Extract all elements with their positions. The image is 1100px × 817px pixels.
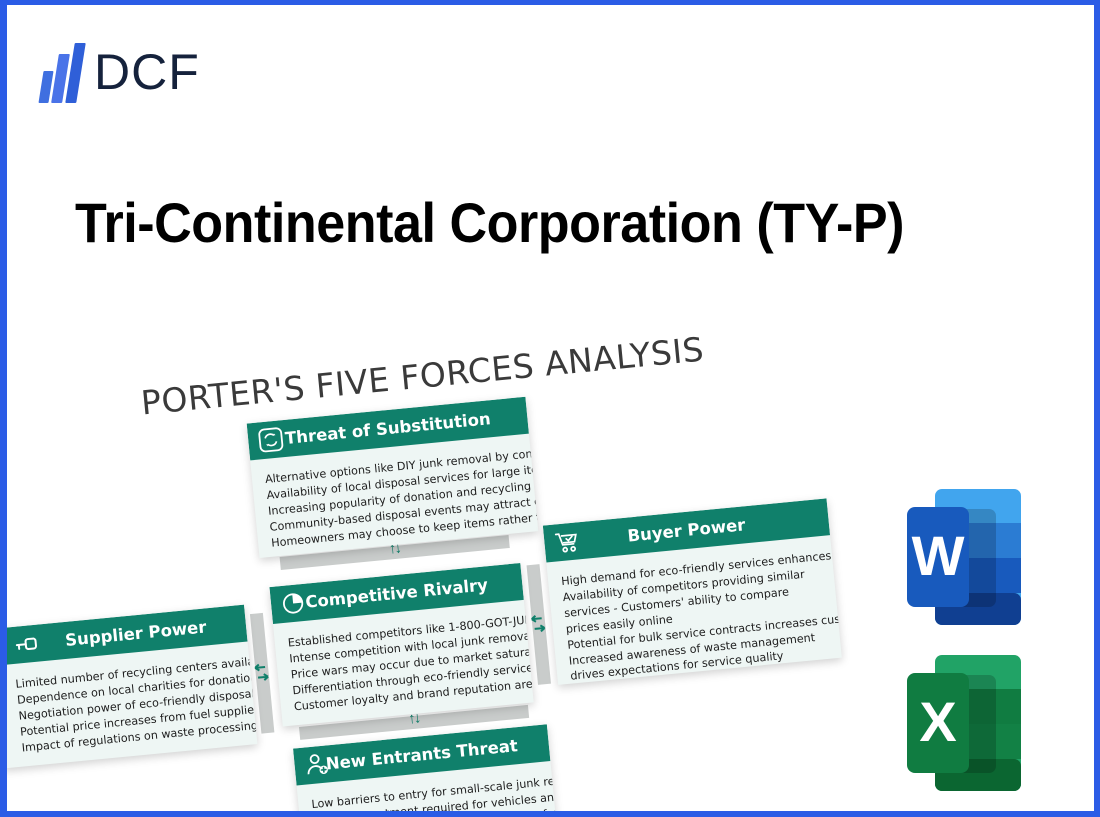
- card-points-list: Low barriers to entry for small-scale ju…: [311, 775, 545, 817]
- horizontal-arrows-icon: [251, 660, 273, 686]
- page-title: Tri-Continental Corporation (TY-P): [75, 190, 968, 255]
- card-buyer-power: Buyer Power High demand for eco-friendly…: [543, 498, 842, 685]
- word-icon-letter: W: [912, 524, 965, 587]
- card-points-list: Established competitors like 1-800-GOT-J…: [287, 614, 520, 715]
- excel-spreadsheet-icon[interactable]: X: [905, 653, 1023, 795]
- word-document-icon[interactable]: W: [905, 487, 1023, 629]
- card-threat-of-substitution: Threat of Substitution Alternative optio…: [247, 397, 539, 558]
- brand-logo[interactable]: DCF: [40, 41, 200, 103]
- card-points-list: Limited number of recycling centers avai…: [15, 656, 244, 756]
- page-frame: DCF Tri-Continental Corporation (TY-P) P…: [0, 0, 1100, 817]
- porters-five-forces-diagram: PORTER'S FIVE FORCES ANALYSIS ↑↓ ↑↓ Thre…: [0, 294, 889, 817]
- card-new-entrants-threat: New Entrants Threat Low barriers to entr…: [293, 724, 558, 817]
- brand-name: DCF: [94, 47, 200, 97]
- card-points-list: High demand for eco-friendly services en…: [561, 549, 829, 685]
- page-canvas: DCF Tri-Continental Corporation (TY-P) P…: [7, 5, 1094, 811]
- excel-icon-letter: X: [919, 690, 956, 753]
- horizontal-arrows-icon: [527, 612, 549, 638]
- card-points-list: Alternative options like DIY junk remova…: [264, 448, 524, 552]
- card-competitive-rivalry: Competitive Rivalry Established competit…: [269, 563, 533, 727]
- card-supplier-power: Supplier Power Limited number of recycli…: [0, 605, 257, 769]
- dcf-bars-logo-icon: [40, 41, 84, 103]
